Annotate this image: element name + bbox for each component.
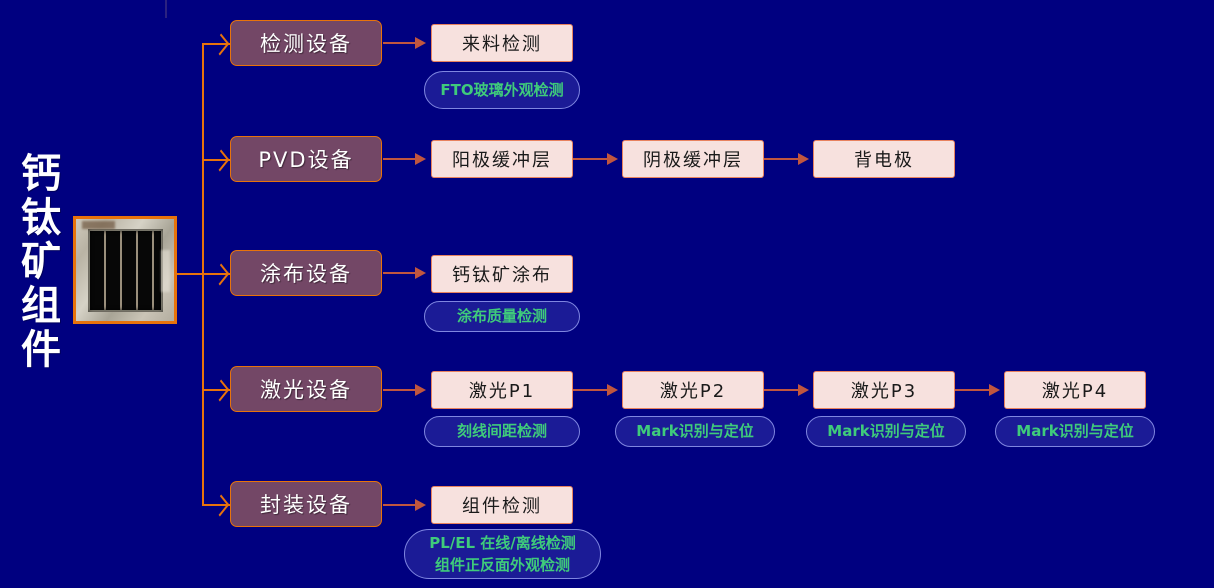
- process-box-module-inspection[interactable]: 组件检测: [431, 486, 573, 524]
- process-box-incoming-inspection[interactable]: 来料检测: [431, 24, 573, 62]
- equipment-box-inspection[interactable]: 检测设备: [230, 20, 382, 66]
- connector-row4-s3-to-s4: [955, 389, 993, 391]
- connector-row4-s2-to-s3: [764, 389, 802, 391]
- arrowhead-row2-s2: [607, 153, 618, 165]
- page-title: 钙钛矿组件: [10, 152, 72, 372]
- detection-pill-pl-el[interactable]: PL/EL 在线/离线检测 组件正反面外观检测: [404, 529, 601, 579]
- equipment-box-pvd[interactable]: PVD设备: [230, 136, 382, 182]
- module-smudge: [82, 221, 115, 229]
- process-box-laser-p1[interactable]: 激光P1: [431, 371, 573, 409]
- equipment-box-encapsulation[interactable]: 封装设备: [230, 481, 382, 527]
- equipment-box-coating[interactable]: 涂布设备: [230, 250, 382, 296]
- connector-row5-eq-to-s1: [383, 504, 417, 506]
- trunk-stub-horizontal: [177, 273, 203, 275]
- arrowhead-row2-s1: [415, 153, 426, 165]
- perovskite-module-photo: [73, 216, 177, 324]
- flowchart-canvas: 钙钛矿组件 检测设备 来料检测 FTO玻璃外观检测 PVD设备 阳极缓冲层 阴极…: [0, 0, 1214, 588]
- connector-row2-s1-to-s2: [573, 158, 611, 160]
- arrowhead-row5-s1: [415, 499, 426, 511]
- process-box-anode-buffer[interactable]: 阳极缓冲层: [431, 140, 573, 178]
- module-cell-stripes: [90, 231, 162, 310]
- process-box-laser-p2[interactable]: 激光P2: [622, 371, 764, 409]
- connector-row1-eq-to-s1: [383, 42, 417, 44]
- connector-row3-eq-to-s1: [383, 272, 417, 274]
- connector-row4-s1-to-s2: [573, 389, 611, 391]
- branch-arrow-row-4: [212, 380, 230, 402]
- branch-arrow-row-2: [212, 150, 230, 172]
- detection-pill-mark-p4[interactable]: Mark识别与定位: [995, 416, 1155, 447]
- equipment-box-laser[interactable]: 激光设备: [230, 366, 382, 412]
- connector-row2-s2-to-s3: [764, 158, 802, 160]
- connector-row4-eq-to-s1: [383, 389, 417, 391]
- detection-pill-scribe-spacing[interactable]: 刻线间距检测: [424, 416, 580, 447]
- arrowhead-row3-s1: [415, 267, 426, 279]
- arrowhead-row2-s3: [798, 153, 809, 165]
- arrowhead-row4-s4: [989, 384, 1000, 396]
- process-box-cathode-buffer[interactable]: 阴极缓冲层: [622, 140, 764, 178]
- process-box-laser-p4[interactable]: 激光P4: [1004, 371, 1146, 409]
- arrowhead-row4-s1: [415, 384, 426, 396]
- connector-row2-eq-to-s1: [383, 158, 417, 160]
- detection-pill-coating-quality[interactable]: 涂布质量检测: [424, 301, 580, 332]
- branch-arrow-row-5: [212, 495, 230, 517]
- detection-pill-mark-p3[interactable]: Mark识别与定位: [806, 416, 966, 447]
- arrowhead-row1-s1: [415, 37, 426, 49]
- detection-pill-mark-p2[interactable]: Mark识别与定位: [615, 416, 775, 447]
- top-tick-mark: [165, 0, 167, 18]
- arrowhead-row4-s2: [607, 384, 618, 396]
- arrowhead-row4-s3: [798, 384, 809, 396]
- process-box-perovskite-coating[interactable]: 钙钛矿涂布: [431, 255, 573, 293]
- process-box-laser-p3[interactable]: 激光P3: [813, 371, 955, 409]
- branch-arrow-row-1: [212, 34, 230, 56]
- detection-pill-fto-glass[interactable]: FTO玻璃外观检测: [424, 71, 580, 109]
- branch-arrow-row-3: [212, 264, 230, 286]
- process-box-back-electrode[interactable]: 背电极: [813, 140, 955, 178]
- module-highlight: [161, 250, 170, 293]
